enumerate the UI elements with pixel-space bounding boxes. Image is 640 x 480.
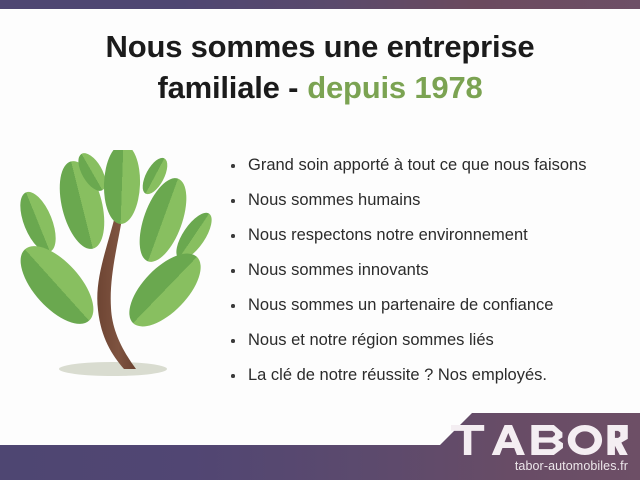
bullet-icon [231,164,235,168]
brand-tagline: tabor-automobiles.fr [451,460,628,473]
list-item: Nous sommes innovants [228,253,628,288]
list-item-label: Nous respectons notre environnement [248,226,528,244]
headline-accent: depuis 1978 [307,70,482,105]
list-item: Nous sommes humains [228,183,628,218]
list-item-label: Nous sommes innovants [248,261,429,279]
tree-illustration [12,150,217,388]
slide-canvas: Nous sommes une entreprise familiale -de… [0,0,640,480]
bullet-icon [231,374,235,378]
list-item: Nous sommes un partenaire de confiance [228,288,628,323]
list-item-label: Nous et notre région sommes liés [248,331,494,349]
headline-prefix: familiale - [157,70,298,105]
list-item: Nous et notre région sommes liés [228,323,628,358]
tabor-wordmark-icon [451,425,628,455]
headline-line-1: Nous sommes une entreprise [0,26,640,67]
leaf [13,187,63,257]
list-item: Grand soin apporté à tout ce que nous fa… [228,148,628,183]
list-item-label: Nous sommes un partenaire de confiance [248,296,553,314]
leaf [117,242,213,339]
bullet-icon [231,304,235,308]
leaf [12,234,106,336]
benefits-list: Grand soin apporté à tout ce que nous fa… [228,148,628,393]
list-item: La clé de notre réussite ? Nos employés. [228,358,628,393]
bullet-icon [231,199,235,203]
bullet-icon [231,269,235,273]
list-item: Nous respectons notre environnement [228,218,628,253]
top-accent-bar [0,0,640,9]
list-item-label: Nous sommes humains [248,191,420,209]
brand-logo[interactable]: tabor-automobiles.fr [451,425,628,473]
list-item-label: La clé de notre réussite ? Nos employés. [248,366,547,384]
tree-trunk [97,212,136,369]
headline-line-2: familiale -depuis 1978 [0,67,640,108]
bullet-icon [231,234,235,238]
list-item-label: Grand soin apporté à tout ce que nous fa… [248,156,586,174]
tree-shadow [59,362,167,376]
page-title: Nous sommes une entreprise familiale -de… [0,26,640,108]
leaf [103,150,142,225]
bullet-icon [231,339,235,343]
